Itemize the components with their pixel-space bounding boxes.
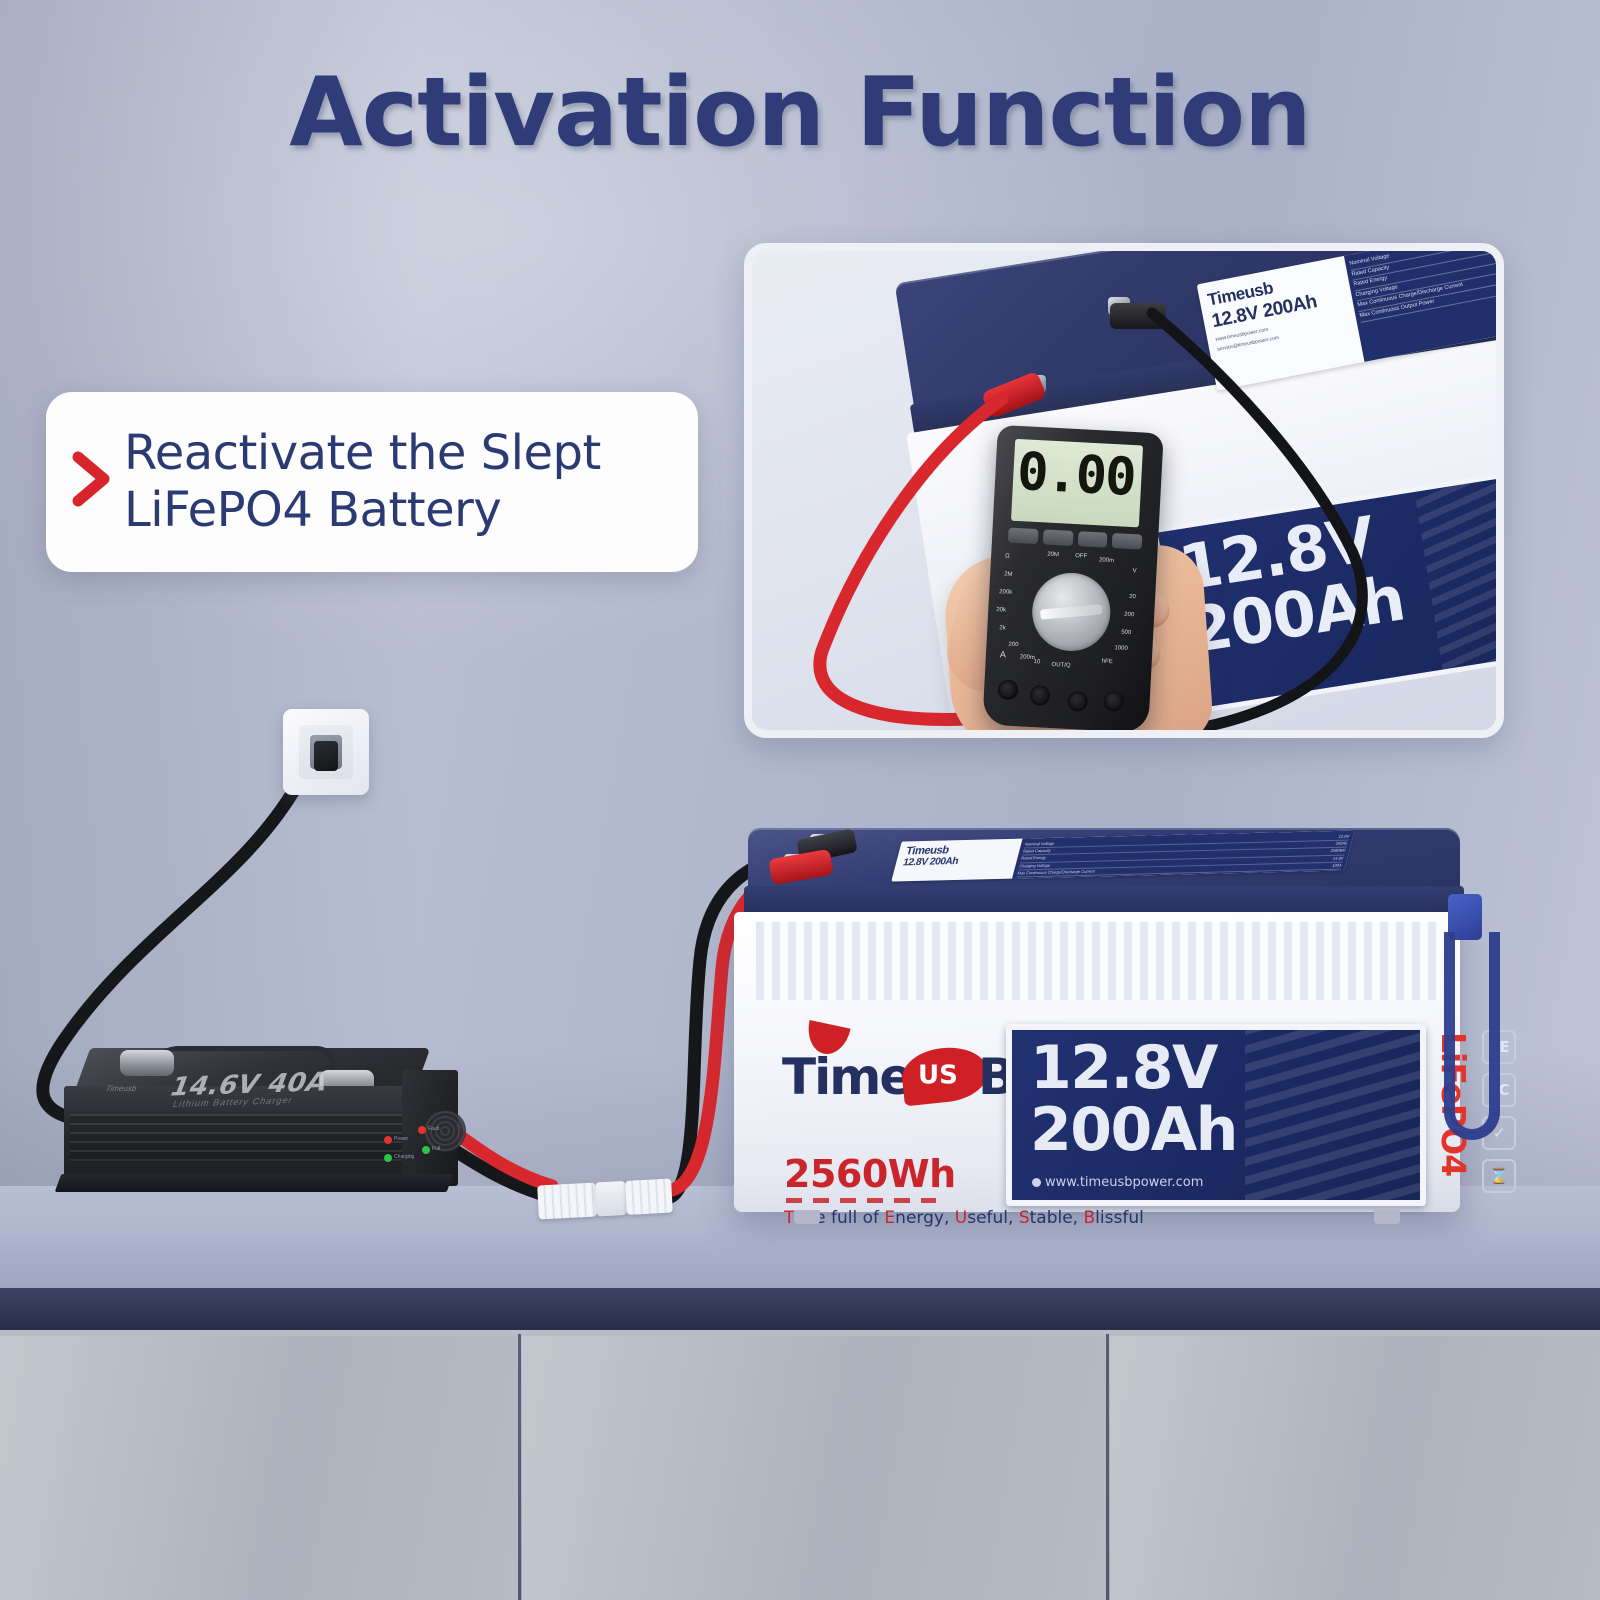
countertop-edge [0, 1288, 1600, 1336]
multimeter-jack-ma[interactable] [1029, 685, 1050, 706]
connector-segment-b [595, 1181, 627, 1217]
dial-label-20v: 20 [1129, 594, 1136, 600]
tagline-u: U [955, 1208, 967, 1228]
multimeter-input-jacks[interactable] [997, 675, 1139, 716]
top-label-key: Charging Voltage [1019, 862, 1052, 869]
dial-label-200k: 200k [999, 589, 1012, 596]
tagline-e: E [884, 1208, 895, 1228]
dial-label-10: 10 [1033, 659, 1040, 665]
charging-led [384, 1154, 392, 1162]
full-led [422, 1146, 430, 1154]
multimeter-button[interactable] [1043, 529, 1073, 546]
full-led-label: Full [432, 1146, 440, 1152]
callout-line-2: LiFePO4 Battery [124, 482, 601, 539]
battery-spec-panel: 12.8V 200Ah www.timeusbpower.com [1006, 1024, 1426, 1206]
dial-label-hfe: hFE [1102, 659, 1113, 666]
multimeter-jack-vomega[interactable] [1103, 691, 1124, 712]
dial-label-500: 500 [1121, 630, 1131, 637]
top-label-val: 2560Wh [1330, 848, 1347, 855]
inset-black-alligator-clip [1110, 303, 1166, 329]
charging-led-label: Charging [394, 1154, 414, 1160]
multimeter-buttons[interactable] [1008, 528, 1143, 550]
battery-foot-right [1374, 1210, 1400, 1224]
top-label-rating: 12.8V 200Ah [902, 855, 1015, 869]
dial-label-1000: 1000 [1114, 645, 1128, 652]
fault-led [418, 1126, 426, 1134]
top-label-val: 100A [1331, 862, 1342, 868]
digital-multimeter[interactable]: 0.00 Ω 20M OFF 200m V 2M 200k 20k 2k 200 [982, 425, 1163, 733]
dial-label-2k: 2k [999, 625, 1006, 631]
cabinet [0, 1330, 1600, 1600]
multimeter-rotary-dial-area[interactable]: Ω 20M OFF 200m V 2M 200k 20k 2k 200 200m… [993, 549, 1149, 677]
multimeter-button[interactable] [1112, 533, 1142, 550]
multimeter-button[interactable] [1077, 531, 1107, 548]
callout-text: Reactivate the Slept LiFePO4 Battery [124, 425, 601, 538]
top-label-val: 12.8V [1338, 834, 1350, 840]
multimeter-jack-com[interactable] [1067, 691, 1088, 712]
power-led [384, 1136, 392, 1144]
dial-label-20k: 20k [996, 607, 1006, 613]
battery-body: Time US B ® 2560Wh Time full of Energy, … [734, 912, 1460, 1212]
dial-label-200m: 200m [1099, 557, 1114, 564]
charger-brand: Timeusb [104, 1084, 138, 1093]
power-led-label: Power [394, 1136, 408, 1142]
panel-values: 12.8V 200Ah [1030, 1038, 1237, 1162]
top-label-brand-block: Timeusb 12.8V 200Ah [891, 839, 1022, 882]
multimeter-lcd-screen: 0.00 [1011, 439, 1143, 528]
multimeter-reading: 0.00 [1016, 448, 1136, 503]
dial-label-off: OFF [1075, 553, 1087, 560]
dashed-divider [786, 1198, 936, 1203]
connector-segment-a [537, 1182, 597, 1219]
top-label-val: 200Ah [1335, 841, 1348, 847]
dial-label-2m: 2M [1004, 571, 1013, 577]
dial-label-200v: 200 [1124, 612, 1134, 619]
battery-url-text: www.timeusbpower.com [1045, 1175, 1203, 1190]
globe-icon [1032, 1178, 1041, 1187]
energy-rating: 2560Wh [784, 1152, 956, 1196]
cabinet-panel-2 [522, 1336, 1106, 1600]
scene [0, 0, 1600, 1600]
top-label-key: Rated Capacity [1022, 848, 1051, 855]
page-title: Activation Function [0, 58, 1600, 168]
top-label-key: Rated Energy [1020, 855, 1046, 862]
logo-time-text: Time [782, 1048, 911, 1106]
anderson-style-connector[interactable] [537, 1179, 673, 1220]
top-label-spec-table: Nominal Voltage 12.8V Rated Capacity 200… [1012, 831, 1355, 879]
charger-knob-left [120, 1050, 174, 1076]
tagline-b: B [1084, 1208, 1096, 1228]
logo-us-text: US [918, 1061, 958, 1091]
battery-website: www.timeusbpower.com [1032, 1175, 1203, 1190]
multimeter-rotary-dial[interactable] [1030, 571, 1112, 653]
charger-base-plate [55, 1174, 454, 1192]
cabinet-panel-3 [1110, 1336, 1600, 1600]
inset-photo-content: 12.8V 200Ah Timeusb 12.8V 200Ah www.time… [752, 251, 1496, 730]
fault-led-label: Fault [428, 1126, 439, 1132]
battery-cooling-fins [756, 922, 1440, 1000]
connector-segment-c [625, 1179, 673, 1215]
charger-ribs [70, 1114, 410, 1162]
tagline-t: T [784, 1208, 794, 1228]
brand-tagline: Time full of Energy, Useful, Stable, Bli… [784, 1208, 1144, 1228]
inset-photo-multimeter: 12.8V 200Ah Timeusb 12.8V 200Ah www.time… [744, 243, 1504, 738]
chevron-right-icon [70, 451, 116, 514]
blue-rope-handle[interactable] [1444, 932, 1500, 1140]
multimeter-jack-10a[interactable] [998, 679, 1019, 700]
brand-logo: Time US B ® [782, 1042, 1032, 1112]
dial-label-amp: A [1000, 649, 1007, 659]
callout-card: Reactivate the Slept LiFePO4 Battery [46, 392, 698, 572]
inset-panel-stripes [1415, 464, 1504, 690]
wall-power-outlet[interactable] [283, 709, 369, 795]
logo-us-badge: US [899, 1044, 990, 1107]
dial-label-ohm: Ω [1005, 553, 1010, 559]
multimeter-button[interactable] [1008, 528, 1038, 545]
panel-stripes [1245, 1024, 1426, 1206]
tagline-s: S [1019, 1208, 1030, 1228]
weee-bin-icon: ⌛ [1482, 1159, 1516, 1193]
ac-power-plug[interactable] [314, 741, 338, 771]
dial-label-20m: 20M [1047, 552, 1059, 559]
inset-panel-values: 12.8V 200Ah [1175, 504, 1409, 663]
top-label-val: 14.6V [1332, 855, 1344, 861]
lithium-battery-charger[interactable]: Timeusb 14.6V 40A Lithium Battery Charge… [62, 1048, 454, 1208]
battery-foot-left [794, 1210, 820, 1224]
cabinet-seam-1 [518, 1334, 521, 1600]
dial-label-200: 200 [1008, 642, 1018, 649]
dial-label-v: V [1132, 568, 1136, 574]
battery-voltage: 12.8V [1030, 1038, 1237, 1100]
top-label-key: Nominal Voltage [1024, 841, 1055, 848]
cabinet-panel-1 [0, 1336, 518, 1600]
dial-label-outq: OUT/Q [1051, 662, 1070, 669]
battery-capacity: 200Ah [1030, 1100, 1237, 1162]
cabinet-seam-2 [1106, 1334, 1109, 1600]
lifepo4-battery: Timeusb 12.8V 200Ah Nominal Voltage 12.8… [718, 828, 1488, 1220]
callout-line-1: Reactivate the Slept [124, 425, 601, 482]
